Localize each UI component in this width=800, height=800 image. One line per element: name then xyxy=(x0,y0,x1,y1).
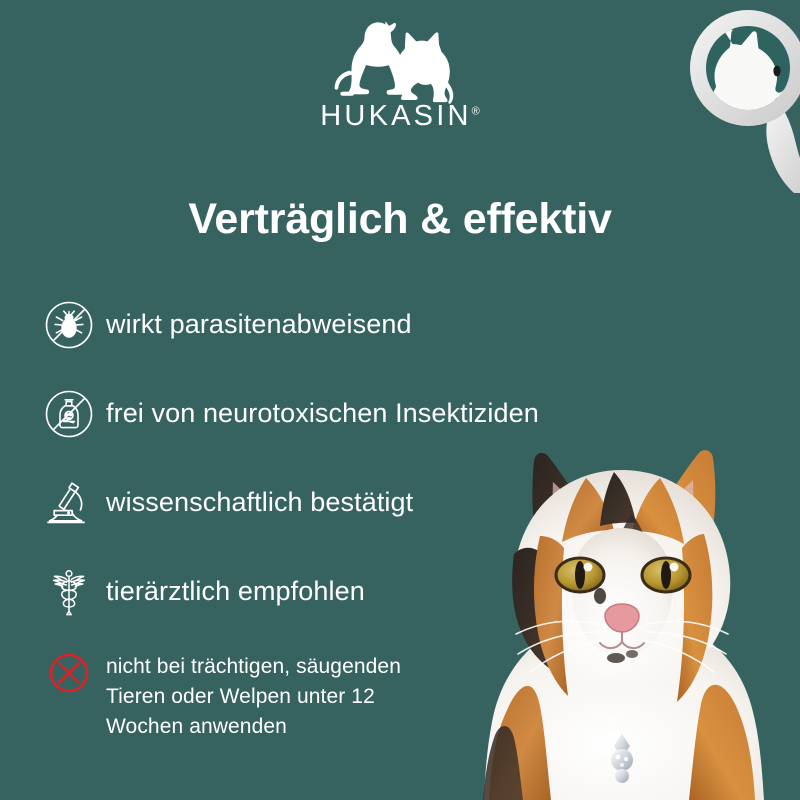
no-insecticide-bottle-icon xyxy=(40,385,98,443)
registered-trademark-symbol: ® xyxy=(472,105,480,117)
warning-label: nicht bei trächtigen, säugenden Tieren o… xyxy=(106,652,436,741)
caduceus-icon xyxy=(40,563,98,621)
dog-and-cat-silhouette-icon xyxy=(325,18,475,104)
brand-wordmark-text: HUKASIN xyxy=(320,100,471,132)
microscope-icon xyxy=(40,474,98,532)
no-tick-icon xyxy=(40,296,98,354)
feature-label: tierärztlich empfohlen xyxy=(106,576,365,607)
feature-label: wissenschaftlich bestätigt xyxy=(106,487,413,518)
feature-label: wirkt parasitenabweisend xyxy=(106,309,412,340)
feature-item-parasite-repellent: wirkt parasitenabweisend xyxy=(40,296,640,354)
red-circled-x-icon xyxy=(40,652,98,694)
cat-head-pin-icon xyxy=(676,8,800,193)
promo-banner: HUKASIN® Verträglich & effektiv xyxy=(0,0,800,800)
calico-cat-photo xyxy=(436,418,800,800)
page-title: Verträglich & effektiv xyxy=(0,196,800,243)
